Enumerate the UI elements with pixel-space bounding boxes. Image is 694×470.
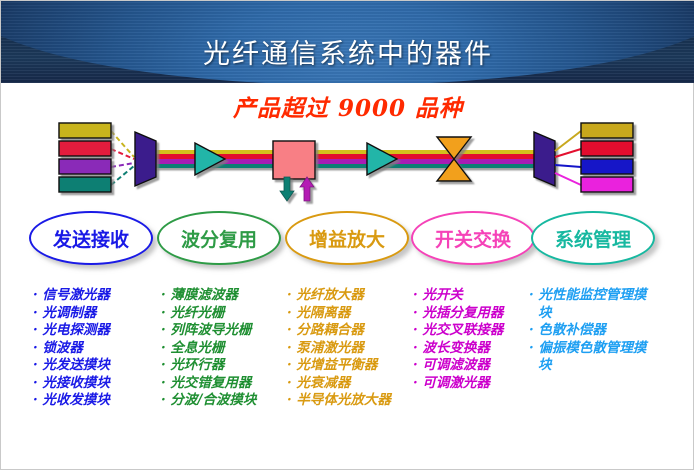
category-badge-switching[interactable]: 开关交换 — [411, 211, 535, 265]
category-label: 开关交换 — [435, 225, 511, 252]
component-item: 光隔离器 — [287, 305, 405, 323]
component-item: 分波/合波摸块 — [161, 392, 279, 410]
component-list: 信号激光器光调制器光电探测器锁波器光发送摸块光接收摸块光收发摸块 — [33, 287, 155, 410]
category-badge-transmit-receive[interactable]: 发送接收 — [29, 211, 153, 265]
optical-amplifier-2-icon — [367, 143, 397, 175]
component-item: 泵浦激光器 — [287, 340, 405, 358]
component-column-system-management: 光性能监控管理摸块色散补偿器偏振模色散管理摸块 — [529, 287, 649, 375]
multiplexer-icon — [135, 132, 156, 186]
component-item: 光接收摸块 — [33, 375, 155, 393]
component-item: 可调滤波器 — [413, 357, 517, 375]
category-badge-system-management[interactable]: 系统管理 — [531, 211, 655, 265]
optical-amplifier-1-icon — [195, 143, 225, 175]
source-feeder-lines — [111, 131, 134, 185]
component-item: 波长变换器 — [413, 340, 517, 358]
component-item: 光电探测器 — [33, 322, 155, 340]
drop-arrow-icon — [280, 177, 294, 201]
component-list: 薄膜滤波器光纤光栅列阵波导光栅全息光栅光环行器光交错复用器分波/合波摸块 — [161, 287, 279, 410]
transmitter-source-boxes — [59, 123, 111, 192]
component-list: 光纤放大器光隔离器分路耦合器泵浦激光器光增益平衡器光衰减器半导体光放大器 — [287, 287, 405, 410]
component-column-amplification: 光纤放大器光隔离器分路耦合器泵浦激光器光增益平衡器光衰减器半导体光放大器 — [287, 287, 405, 410]
category-badge-wdm[interactable]: 波分复用 — [157, 211, 281, 265]
category-label: 系统管理 — [555, 225, 631, 252]
system-diagram — [1, 119, 694, 207]
subtitle: 产品超过 9000 品种 — [1, 89, 694, 123]
component-item: 锁波器 — [33, 340, 155, 358]
component-item: 光纤放大器 — [287, 287, 405, 305]
component-item: 光开关 — [413, 287, 517, 305]
component-item: 光发送摸块 — [33, 357, 155, 375]
component-item: 光性能监控管理摸块 — [529, 287, 649, 322]
receiver-output-boxes — [581, 123, 633, 192]
component-list: 光性能监控管理摸块色散补偿器偏振模色散管理摸块 — [529, 287, 649, 375]
slide-header: 光纤通信系统中的器件 — [1, 1, 694, 83]
slide-canvas: 光纤通信系统中的器件 产品超过 9000 品种 — [0, 0, 694, 470]
component-item: 光交错复用器 — [161, 375, 279, 393]
component-item: 全息光栅 — [161, 340, 279, 358]
add-drop-node-icon — [273, 141, 315, 179]
component-item: 列阵波导光栅 — [161, 322, 279, 340]
component-item: 信号激光器 — [33, 287, 155, 305]
component-item: 光环行器 — [161, 357, 279, 375]
component-column-transmit-receive: 信号激光器光调制器光电探测器锁波器光发送摸块光接收摸块光收发摸块 — [33, 287, 155, 410]
component-column-switching: 光开关光插分复用器光交叉联接器波长变换器可调滤波器可调激光器 — [413, 287, 517, 392]
category-row: 发送接收 波分复用 增益放大 开关交换 系统管理 — [1, 207, 694, 273]
category-badge-amplification[interactable]: 增益放大 — [285, 211, 409, 265]
component-item: 光插分复用器 — [413, 305, 517, 323]
component-item: 可调激光器 — [413, 375, 517, 393]
component-item: 光调制器 — [33, 305, 155, 323]
demultiplexer-icon — [534, 132, 555, 186]
component-item: 色散补偿器 — [529, 322, 649, 340]
component-item: 光交叉联接器 — [413, 322, 517, 340]
component-item: 偏振模色散管理摸块 — [529, 340, 649, 375]
category-label: 增益放大 — [309, 225, 385, 252]
component-item: 光收发摸块 — [33, 392, 155, 410]
component-item: 光增益平衡器 — [287, 357, 405, 375]
component-item: 薄膜滤波器 — [161, 287, 279, 305]
category-label: 发送接收 — [53, 225, 129, 252]
component-item: 光纤光栅 — [161, 305, 279, 323]
component-item: 分路耦合器 — [287, 322, 405, 340]
component-item: 半导体光放大器 — [287, 392, 405, 410]
add-arrow-icon — [300, 177, 314, 201]
component-columns: 信号激光器光调制器光电探测器锁波器光发送摸块光接收摸块光收发摸块 薄膜滤波器光纤… — [1, 287, 694, 467]
receiver-output-lines — [555, 131, 581, 185]
component-item: 光衰减器 — [287, 375, 405, 393]
component-column-wdm: 薄膜滤波器光纤光栅列阵波导光栅全息光栅光环行器光交错复用器分波/合波摸块 — [161, 287, 279, 410]
component-list: 光开关光插分复用器光交叉联接器波长变换器可调滤波器可调激光器 — [413, 287, 517, 392]
category-label: 波分复用 — [181, 225, 257, 252]
page-title: 光纤通信系统中的器件 — [1, 1, 694, 83]
